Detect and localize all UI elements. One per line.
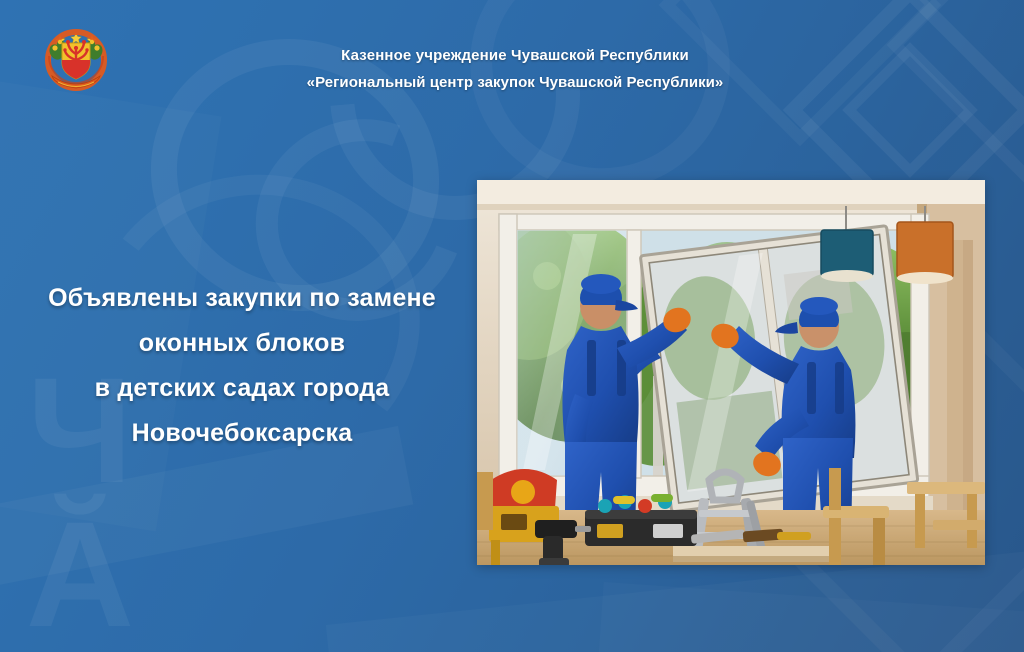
organization-title-line2: «Региональный центр закупок Чувашской Ре…: [200, 69, 830, 96]
headline-line-1: Объявлены закупки по замене: [22, 276, 462, 321]
watermark-letter-2: Ă: [26, 490, 136, 652]
watermark-letter-3: В: [26, 634, 136, 652]
headline-line-2: оконных блоков: [22, 321, 462, 366]
slide-background: Ч Ă В: [0, 0, 1024, 652]
headline-line-4: Новочебоксарска: [22, 411, 462, 456]
header: Казенное учреждение Чувашской Республики…: [0, 0, 1024, 118]
organization-title-line1: Казенное учреждение Чувашской Республики: [200, 42, 830, 69]
watermark-band-3: [597, 582, 1024, 652]
page-title: Объявлены закупки по замене оконных блок…: [22, 276, 462, 456]
organization-title: Казенное учреждение Чувашской Республики…: [200, 42, 830, 96]
window-replacement-photo: [477, 180, 985, 565]
headline-line-3: в детских садах города: [22, 366, 462, 411]
chuvash-republic-coat-of-arms-icon: [42, 26, 110, 98]
